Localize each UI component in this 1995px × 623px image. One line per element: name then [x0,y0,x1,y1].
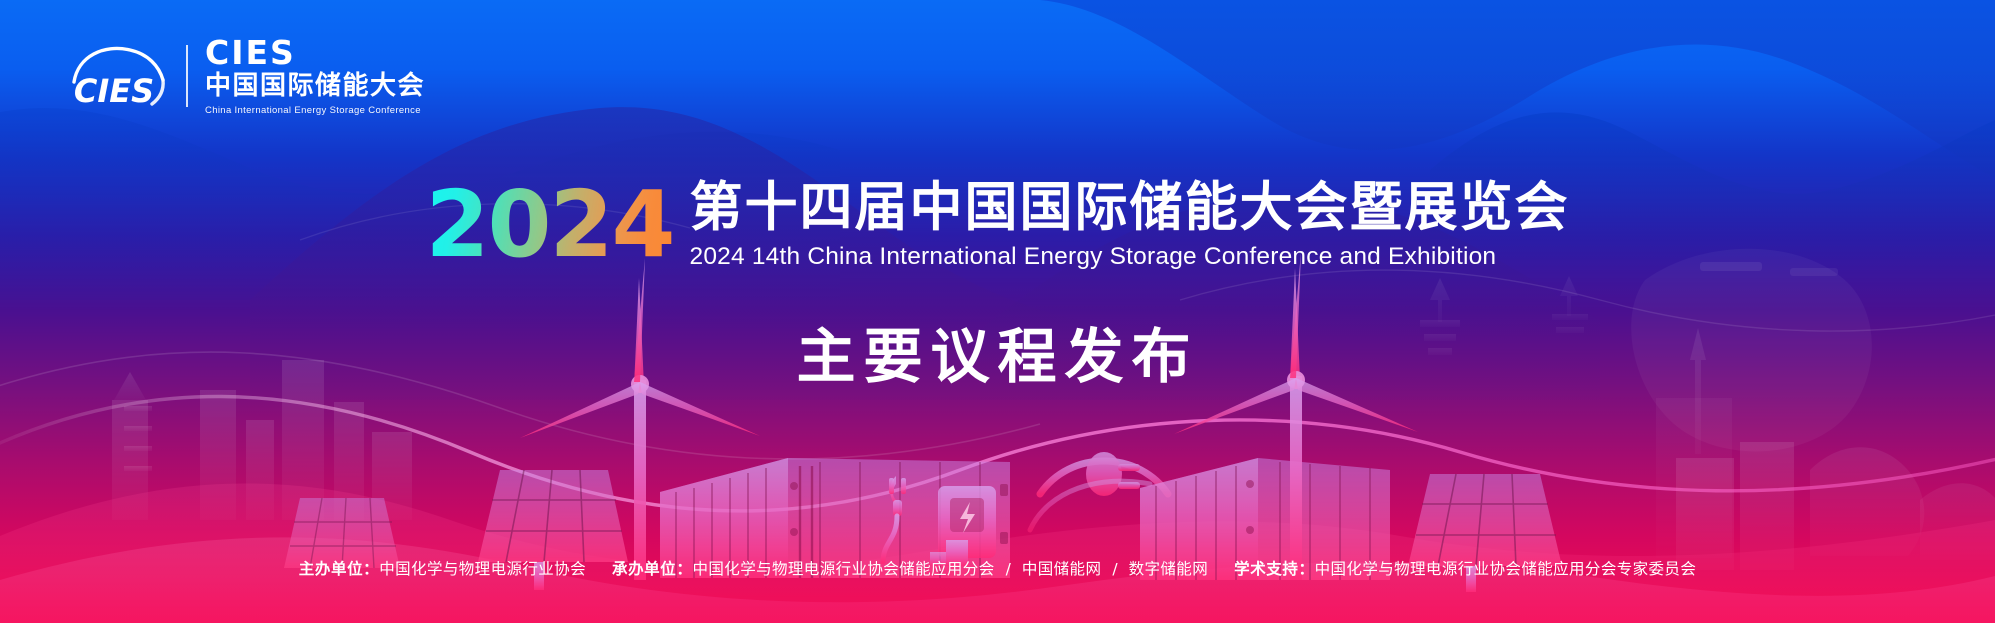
logo-chinese-name: 中国国际储能大会 [205,72,425,102]
cies-logo-mark-icon: CIES [64,40,169,112]
host-value-2: 中国储能网 [1022,557,1102,579]
cies-logo[interactable]: CIES CIES 中国国际储能大会 China International E… [64,36,425,117]
logo-english-name: China International Energy Storage Confe… [205,105,425,117]
title-text-group: 第十四届中国国际储能大会暨展览会 2024 14th China Interna… [690,178,1570,273]
organizer-label: 主办单位： [299,557,380,579]
host-label: 承办单位： [612,557,693,579]
logo-divider [186,45,188,107]
year-numerals: 2024 [425,183,677,268]
subheadline-text: 主要议程发布 [796,322,1198,391]
charging-pile-icon [930,486,996,566]
host-value-3: 数字储能网 [1129,557,1209,579]
organizer-value: 中国化学与物理电源行业协会 [379,557,586,579]
conference-banner: CIES CIES 中国国际储能大会 China International E… [0,0,1995,623]
credits-footer: 主办单位： 中国化学与物理电源行业协会 承办单位： 中国化学与物理电源行业协会储… [0,557,1995,579]
main-title-block: 2024 第十四届中国国际储能大会暨展览会 2024 14th China In… [0,178,1995,273]
academic-value: 中国化学与物理电源行业协会储能应用分会专家委员会 [1315,557,1697,579]
conference-title-chinese: 第十四届中国国际储能大会暨展览会 [690,178,1570,237]
conference-title-english: 2024 14th China International Energy Sto… [690,242,1570,273]
logo-brand-text: CIES [205,36,425,71]
subheadline: 主要议程发布 [0,325,1995,390]
separator-1: / [995,560,1022,578]
logo-text-block: CIES 中国国际储能大会 China International Energy… [205,36,425,117]
title-row: 2024 第十四届中国国际储能大会暨展览会 2024 14th China In… [425,178,1569,273]
separator-2: / [1101,560,1128,578]
host-value-1: 中国化学与物理电源行业协会储能应用分会 [693,557,995,579]
academic-label: 学术支持： [1234,557,1315,579]
svg-text:CIES: CIES [74,72,154,110]
